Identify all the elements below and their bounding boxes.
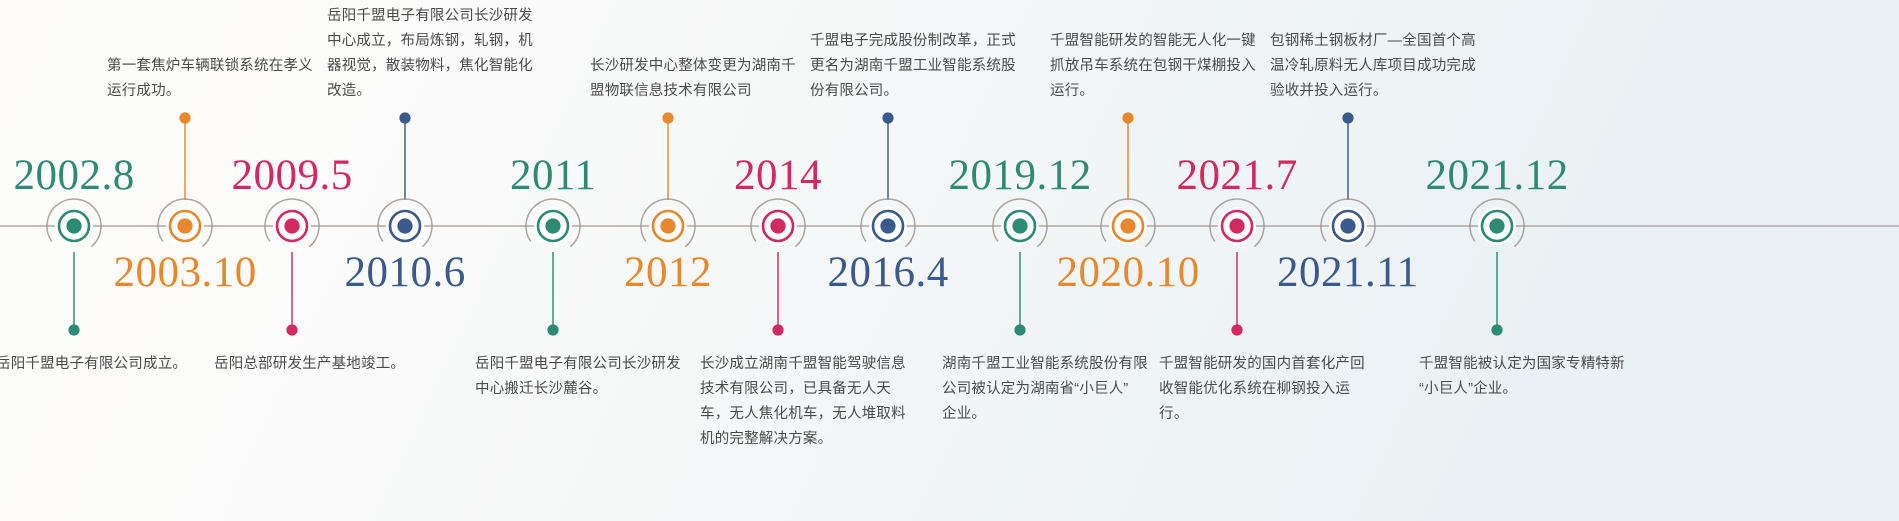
description-line: 盟物联信息技术有限公司 (590, 79, 800, 104)
milestone-description-2014: 长沙成立湖南千盟智能驾驶信息技术有限公司，已具备无人天车，无人焦化机车，无人堆取… (700, 352, 910, 452)
description-line: 抓放吊车系统在包钢干煤棚投入 (1050, 54, 1260, 79)
description-line: “小巨人”企业。 (1419, 377, 1629, 402)
description-line: 千盟智能研发的国内首套化产回 (1159, 352, 1369, 377)
node-ring (873, 211, 903, 241)
node-center-dot (1489, 218, 1504, 233)
milestone-year-2009.5: 2009.5 (232, 154, 353, 197)
milestone-description-2003.10: 第一套焦炉车辆联锁系统在孝义运行成功。 (107, 54, 317, 104)
milestone-year-2012: 2012 (624, 251, 712, 294)
milestone-year-2021.11: 2021.11 (1277, 251, 1419, 294)
node-ring (390, 211, 420, 241)
description-line: 岳阳总部研发生产基地竣工。 (214, 352, 424, 377)
node-outer-arc (265, 199, 319, 247)
description-line: 中心成立，布局炼钢，轧钢，机 (327, 29, 537, 54)
node-disc (1218, 207, 1256, 245)
milestone-year-2021.12: 2021.12 (1426, 154, 1569, 197)
node-ring (763, 211, 793, 241)
timeline-infographic: 2002.8岳阳千盟电子有限公司成立。2003.10第一套焦炉车辆联锁系统在孝义… (0, 0, 1899, 521)
description-line: 机的完整解决方案。 (700, 427, 910, 452)
node-outer-arc (1470, 199, 1524, 247)
node-outer-arc (641, 199, 695, 247)
description-line: 千盟智能被认定为国家专精特新 (1419, 352, 1629, 377)
description-line: 技术有限公司，已具备无人天 (700, 377, 910, 402)
milestone-year-2002.8: 2002.8 (14, 154, 135, 197)
description-line: 第一套焦炉车辆联锁系统在孝义 (107, 54, 317, 79)
milestone-year-2021.7: 2021.7 (1177, 154, 1298, 197)
node-outer-arc (751, 199, 805, 247)
node-center-dot (1340, 218, 1355, 233)
milestone-description-2011: 岳阳千盟电子有限公司长沙研发中心搬迁长沙麓谷。 (475, 352, 685, 402)
connector-end-dot (399, 112, 410, 123)
description-line: 中心搬迁长沙麓谷。 (475, 377, 685, 402)
node-ring (653, 211, 683, 241)
description-line: 岳阳千盟电子有限公司成立。 (0, 352, 206, 377)
description-line: 更名为湖南千盟工业智能系统股 (810, 54, 1020, 79)
milestone-description-2012: 长沙研发中心整体变更为湖南千盟物联信息技术有限公司 (590, 54, 800, 104)
description-line: 湖南千盟工业智能系统股份有限 (942, 352, 1152, 377)
connector-end-dot (1491, 324, 1502, 335)
node-disc (386, 207, 424, 245)
description-line: 千盟智能研发的智能无人化一键 (1050, 29, 1260, 54)
node-outer-arc (378, 199, 432, 247)
node-center-dot (1012, 218, 1027, 233)
connector-end-dot (286, 324, 297, 335)
node-disc (1109, 207, 1147, 245)
description-line: 运行成功。 (107, 79, 317, 104)
connector-end-dot (1342, 112, 1353, 123)
milestone-description-2009.5: 岳阳总部研发生产基地竣工。 (214, 352, 424, 377)
node-ring (1113, 211, 1143, 241)
node-disc (1001, 207, 1039, 245)
node-center-dot (66, 218, 81, 233)
node-disc (759, 207, 797, 245)
description-line: 改造。 (327, 79, 537, 104)
connector-end-dot (1122, 112, 1133, 123)
description-line: 车，无人焦化机车，无人堆取料 (700, 402, 910, 427)
node-center-dot (545, 218, 560, 233)
description-line: 收智能优化系统在柳钢投入运 (1159, 377, 1369, 402)
node-disc (869, 207, 907, 245)
node-center-dot (660, 218, 675, 233)
description-line: 千盟电子完成股份制改革，正式 (810, 29, 1020, 54)
milestone-year-2014: 2014 (734, 154, 822, 197)
milestone-year-2020.10: 2020.10 (1057, 251, 1200, 294)
description-line: 长沙成立湖南千盟智能驾驶信息 (700, 352, 910, 377)
node-ring (1482, 211, 1512, 241)
node-disc (166, 207, 204, 245)
description-line: 岳阳千盟电子有限公司长沙研发 (327, 4, 537, 29)
milestone-year-2011: 2011 (510, 154, 596, 197)
description-line: 企业。 (942, 402, 1152, 427)
node-disc (534, 207, 572, 245)
description-line: 岳阳千盟电子有限公司长沙研发 (475, 352, 685, 377)
node-ring (538, 211, 568, 241)
description-line: 温冷轧原料无人库项目成功完成 (1270, 54, 1480, 79)
description-line: 包钢稀土钢板材厂—全国首个高 (1270, 29, 1480, 54)
milestone-year-2003.10: 2003.10 (114, 251, 257, 294)
description-line: 长沙研发中心整体变更为湖南千 (590, 54, 800, 79)
node-ring (1333, 211, 1363, 241)
description-line: 运行。 (1050, 79, 1260, 104)
connector-end-dot (547, 324, 558, 335)
node-disc (1478, 207, 1516, 245)
milestone-description-2021.12: 千盟智能被认定为国家专精特新“小巨人”企业。 (1419, 352, 1629, 402)
node-center-dot (1120, 218, 1135, 233)
connector-end-dot (1231, 324, 1242, 335)
node-disc (55, 207, 93, 245)
node-outer-arc (993, 199, 1047, 247)
node-center-dot (880, 218, 895, 233)
node-outer-arc (861, 199, 915, 247)
description-line: 验收并投入运行。 (1270, 79, 1480, 104)
description-line: 行。 (1159, 402, 1369, 427)
milestone-description-2016.4: 千盟电子完成股份制改革，正式更名为湖南千盟工业智能系统股份有限公司。 (810, 29, 1020, 104)
milestone-description-2010.6: 岳阳千盟电子有限公司长沙研发中心成立，布局炼钢，轧钢，机器视觉，散装物料，焦化智… (327, 4, 537, 104)
connector-end-dot (1014, 324, 1025, 335)
node-ring (170, 211, 200, 241)
node-disc (649, 207, 687, 245)
node-disc (273, 207, 311, 245)
node-ring (1005, 211, 1035, 241)
connector-end-dot (68, 324, 79, 335)
node-outer-arc (526, 199, 580, 247)
milestone-description-2021.7: 千盟智能研发的国内首套化产回收智能优化系统在柳钢投入运行。 (1159, 352, 1369, 427)
milestone-year-2019.12: 2019.12 (949, 154, 1092, 197)
milestone-description-2020.10: 千盟智能研发的智能无人化一键抓放吊车系统在包钢干煤棚投入运行。 (1050, 29, 1260, 104)
connector-end-dot (179, 112, 190, 123)
node-center-dot (397, 218, 412, 233)
node-outer-arc (47, 199, 101, 247)
node-ring (1222, 211, 1252, 241)
node-center-dot (177, 218, 192, 233)
milestone-year-2016.4: 2016.4 (828, 251, 949, 294)
node-ring (277, 211, 307, 241)
node-ring (59, 211, 89, 241)
milestone-year-2010.6: 2010.6 (345, 251, 466, 294)
milestone-description-2021.11: 包钢稀土钢板材厂—全国首个高温冷轧原料无人库项目成功完成验收并投入运行。 (1270, 29, 1480, 104)
description-line: 器视觉，散装物料，焦化智能化 (327, 54, 537, 79)
node-outer-arc (1101, 199, 1155, 247)
connector-end-dot (882, 112, 893, 123)
node-disc (1329, 207, 1367, 245)
connector-end-dot (662, 112, 673, 123)
milestone-description-2019.12: 湖南千盟工业智能系统股份有限公司被认定为湖南省“小巨人”企业。 (942, 352, 1152, 427)
node-center-dot (770, 218, 785, 233)
node-outer-arc (1210, 199, 1264, 247)
node-outer-arc (158, 199, 212, 247)
node-outer-arc (1321, 199, 1375, 247)
description-line: 份有限公司。 (810, 79, 1020, 104)
connector-end-dot (772, 324, 783, 335)
description-line: 公司被认定为湖南省“小巨人” (942, 377, 1152, 402)
node-center-dot (284, 218, 299, 233)
milestone-description-2002.8: 岳阳千盟电子有限公司成立。 (0, 352, 206, 377)
node-center-dot (1229, 218, 1244, 233)
